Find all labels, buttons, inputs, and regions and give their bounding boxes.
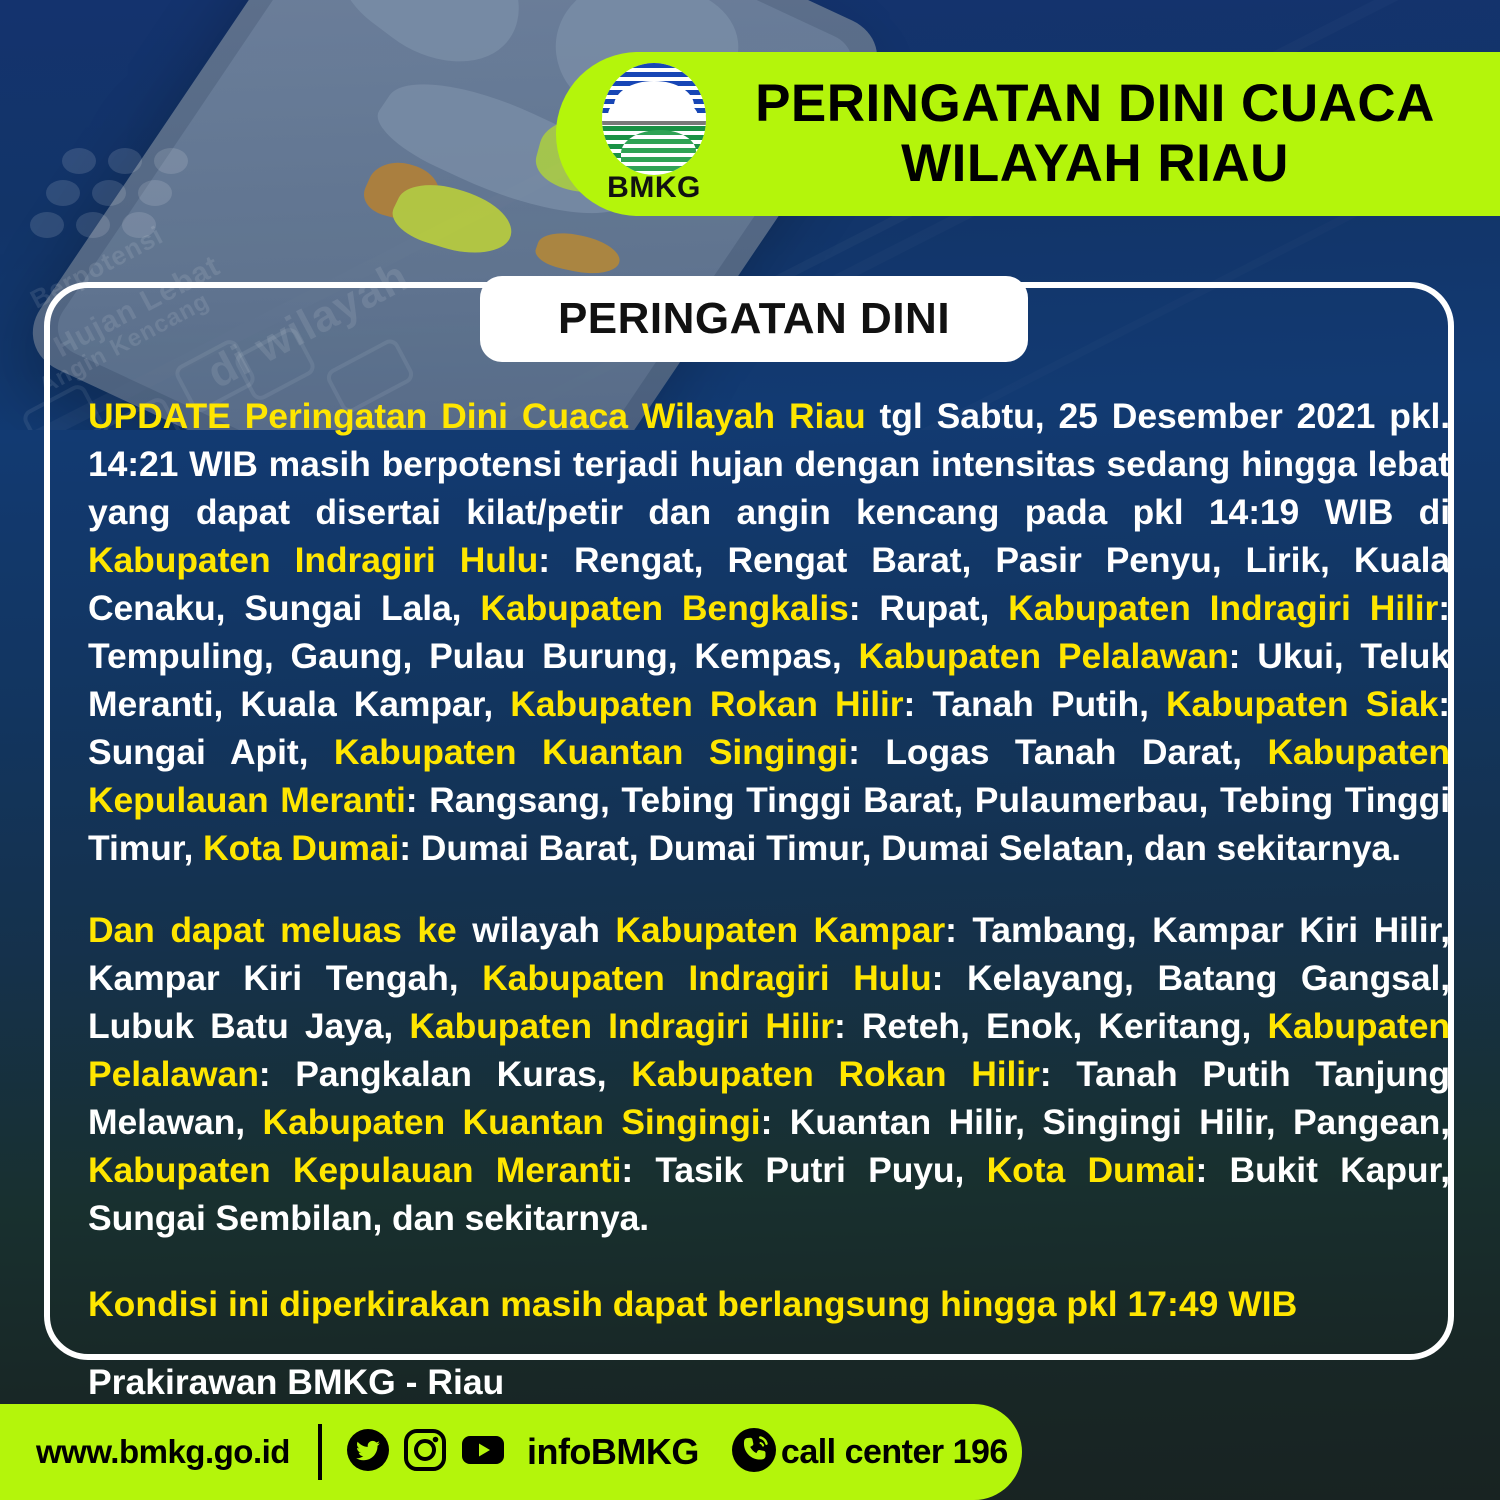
body-span: : Kuantan Hilir, Singingi Hilir, Pangean… bbox=[761, 1102, 1450, 1142]
website-url[interactable]: www.bmkg.go.id bbox=[36, 1433, 290, 1471]
warning-duration-note: Kondisi ini diperkirakan masih dapat ber… bbox=[88, 1280, 1450, 1328]
highlight-span: Kabupaten Rokan Hilir bbox=[631, 1054, 1040, 1094]
highlight-span: Kabupaten Indragiri Hilir bbox=[409, 1006, 834, 1046]
footer-bar: www.bmkg.go.id infoBMKG bbox=[0, 1404, 1022, 1500]
body-span: : Pangkalan Kuras, bbox=[259, 1054, 631, 1094]
highlight-span: Kabupaten Indragiri Hulu bbox=[482, 958, 931, 998]
highlight-span: UPDATE Peringatan Dini Cuaca Wilayah Ria… bbox=[88, 396, 866, 436]
body-span: : Dumai Barat, Dumai Timur, Dumai Selata… bbox=[399, 828, 1401, 868]
bmkg-emblem-icon bbox=[602, 63, 706, 175]
logo-horizon-line bbox=[602, 121, 706, 125]
map-landmass bbox=[311, 0, 555, 89]
warning-paragraph-1: UPDATE Peringatan Dini Cuaca Wilayah Ria… bbox=[88, 392, 1450, 872]
map-highlight-region bbox=[531, 228, 625, 280]
poster-root: Berpotensi Hujan Lebat Angin Kencang di … bbox=[0, 0, 1500, 1500]
highlight-span: Kabupaten Indragiri Hulu bbox=[88, 540, 538, 580]
highlight-span: Kabupaten Kepulauan Meranti bbox=[88, 1150, 621, 1190]
highlight-span: Kabupaten Kuantan Singingi bbox=[263, 1102, 761, 1142]
body-span: wilayah bbox=[457, 910, 616, 950]
instagram-icon[interactable] bbox=[403, 1428, 447, 1477]
highlight-span: Kabupaten Bengkalis bbox=[480, 588, 848, 628]
highlight-span: Kabupaten Pelalawan bbox=[858, 636, 1228, 676]
forecaster-signature: Prakirawan BMKG - Riau bbox=[88, 1358, 1450, 1406]
page-title-line2: WILAYAH RIAU bbox=[730, 134, 1460, 194]
warning-badge: PERINGATAN DINI bbox=[480, 276, 1028, 362]
bmkg-wordmark: BMKG bbox=[596, 171, 712, 205]
warning-content: UPDATE Peringatan Dini Cuaca Wilayah Ria… bbox=[88, 392, 1450, 1406]
highlight-span: Dan dapat meluas ke bbox=[88, 910, 457, 950]
highlight-span: Kabupaten Kuantan Singingi bbox=[334, 732, 848, 772]
logo-hill-shape bbox=[621, 130, 696, 175]
body-span: : Reteh, Enok, Keritang, bbox=[834, 1006, 1268, 1046]
highlight-span: Kabupaten Kampar bbox=[615, 910, 945, 950]
warning-badge-label: PERINGATAN DINI bbox=[558, 294, 950, 344]
header-banner: BMKG PERINGATAN DINI CUACA WILAYAH RIAU bbox=[556, 52, 1500, 216]
highlight-span: Kabupaten Siak bbox=[1166, 684, 1438, 724]
highlight-span: Kabupaten Indragiri Hilir bbox=[1008, 588, 1438, 628]
footer-divider bbox=[318, 1424, 322, 1480]
body-span: : Tasik Putri Puyu, bbox=[621, 1150, 986, 1190]
highlight-span: Kabupaten Rokan Hilir bbox=[510, 684, 903, 724]
page-title-line1: PERINGATAN DINI CUACA bbox=[730, 74, 1460, 134]
highlight-span: Kota Dumai bbox=[203, 828, 399, 868]
phone-icon[interactable] bbox=[731, 1427, 777, 1478]
twitter-icon[interactable] bbox=[346, 1428, 390, 1477]
highlight-span: Kota Dumai bbox=[987, 1150, 1196, 1190]
body-span: : Rupat, bbox=[849, 588, 1008, 628]
body-span: : Tanah Putih, bbox=[904, 684, 1166, 724]
page-title: PERINGATAN DINI CUACA WILAYAH RIAU bbox=[730, 74, 1500, 194]
youtube-icon[interactable] bbox=[460, 1428, 506, 1477]
bmkg-logo-icon: BMKG bbox=[596, 63, 712, 205]
body-span: : Logas Tanah Darat, bbox=[848, 732, 1267, 772]
warning-paragraph-2: Dan dapat meluas ke wilayah Kabupaten Ka… bbox=[88, 906, 1450, 1242]
call-center-label[interactable]: call center 196 bbox=[781, 1433, 1008, 1472]
social-handle[interactable]: infoBMKG bbox=[527, 1431, 699, 1473]
